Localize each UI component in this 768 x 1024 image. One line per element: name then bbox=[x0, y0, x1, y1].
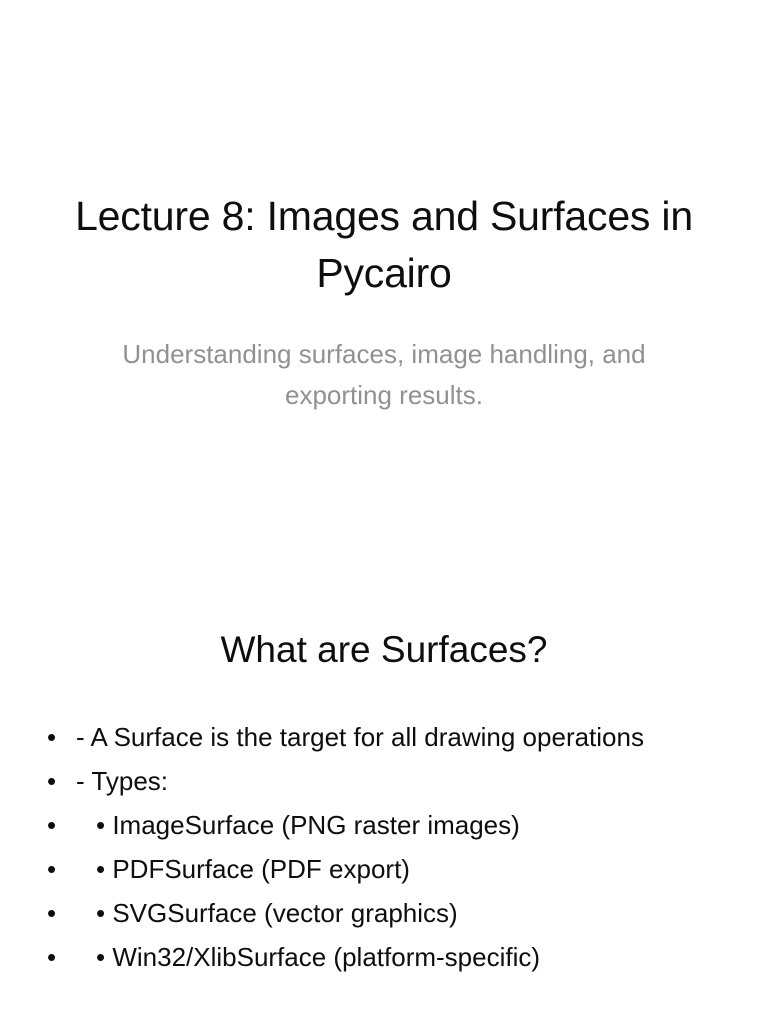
slide-subtitle: Understanding surfaces, image handling, … bbox=[114, 334, 654, 416]
list-item: • • SVGSurface (vector graphics) bbox=[44, 892, 734, 934]
list-item-label: • SVGSurface (vector graphics) bbox=[76, 892, 734, 934]
list-item-label: - Types: bbox=[76, 760, 734, 802]
list-item: • • Win32/XlibSurface (platform-specific… bbox=[44, 936, 734, 978]
list-item: • - A Surface is the target for all draw… bbox=[44, 716, 734, 758]
list-item-label: • PDFSurface (PDF export) bbox=[76, 848, 734, 890]
bullet-icon: • bbox=[47, 848, 65, 890]
bullet-icon: • bbox=[47, 804, 65, 846]
list-item-label: • Win32/XlibSurface (platform-specific) bbox=[76, 936, 734, 978]
section-heading: What are Surfaces? bbox=[50, 626, 718, 674]
bullet-icon: • bbox=[47, 936, 65, 978]
bullet-icon: • bbox=[47, 892, 65, 934]
bullet-icon: • bbox=[47, 716, 65, 758]
page-title: Lecture 8: Images and Surfaces in Pycair… bbox=[50, 188, 718, 302]
list-item: • - Types: bbox=[44, 760, 734, 802]
list-item: • • PDFSurface (PDF export) bbox=[44, 848, 734, 890]
list-item-label: • ImageSurface (PNG raster images) bbox=[76, 804, 734, 846]
list-item-label: - A Surface is the target for all drawin… bbox=[76, 716, 734, 758]
list-item: • • ImageSurface (PNG raster images) bbox=[44, 804, 734, 846]
bullet-icon: • bbox=[47, 760, 65, 802]
slide-canvas: Lecture 8: Images and Surfaces in Pycair… bbox=[0, 0, 768, 1024]
bullet-list: • - A Surface is the target for all draw… bbox=[44, 716, 734, 980]
title-block: Lecture 8: Images and Surfaces in Pycair… bbox=[50, 188, 718, 302]
